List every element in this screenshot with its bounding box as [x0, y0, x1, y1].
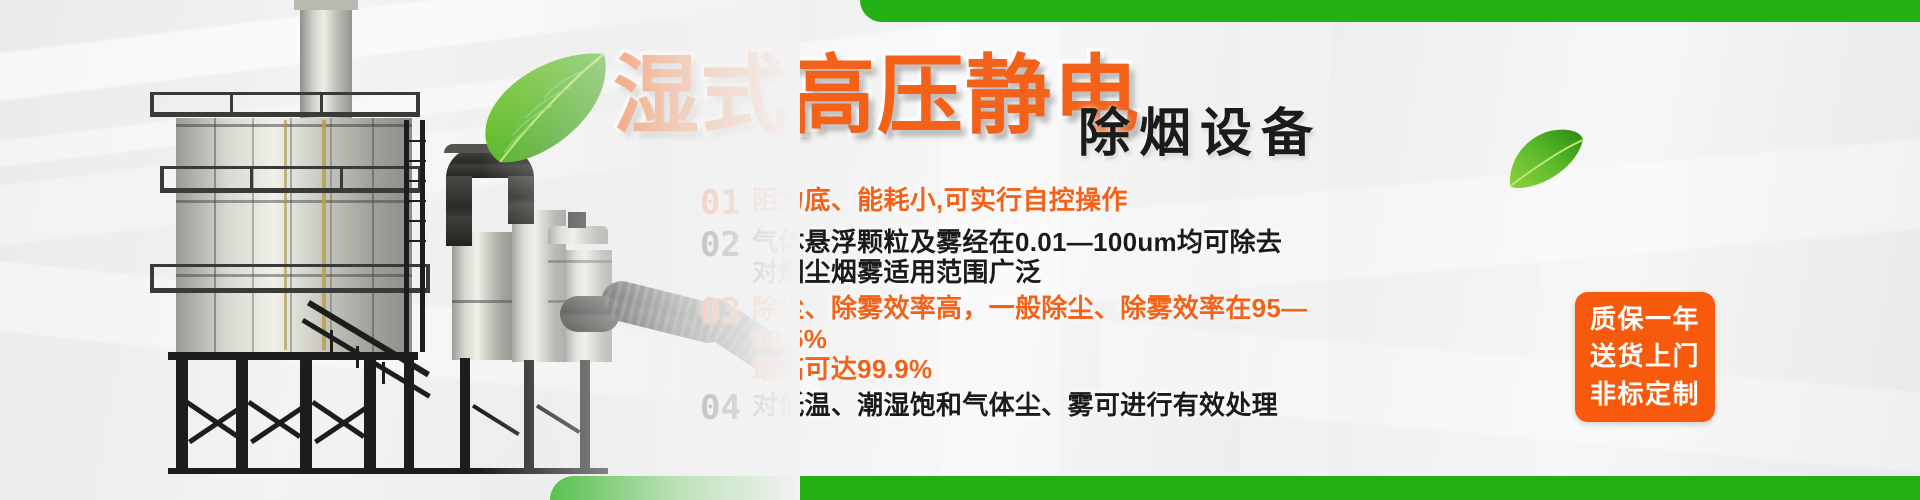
feature-text-group: 阻力底、能耗小,可实行自控操作 — [752, 185, 1128, 216]
leaf-icon — [1506, 128, 1584, 190]
feature-text-line: 最高可达99.9% — [752, 354, 1340, 385]
feature-text-line: 阻力底、能耗小,可实行自控操作 — [752, 185, 1128, 216]
green-bar-top — [860, 0, 1920, 22]
feature-text-line: 对烟尘烟雾适用范围广泛 — [752, 257, 1282, 288]
badge-line: 非标定制 — [1590, 376, 1700, 413]
feature-text-group: 对低温、潮湿饱和气体尘、雾可进行有效处理 — [752, 390, 1278, 421]
banner-subtitle: 除烟设备 — [1078, 108, 1322, 160]
photo-fade-overlay — [0, 0, 800, 500]
badge-line: 送货上门 — [1590, 338, 1700, 375]
guarantee-badge[interactable]: 质保一年 送货上门 非标定制 — [1575, 292, 1715, 422]
feature-text-group: 气体悬浮颗粒及雾经在0.01—100um均可除去 对烟尘烟雾适用范围广泛 — [752, 227, 1282, 288]
promo-banner: 湿式高压静电 湿式高压静电 除烟设备 01 阻力底、能耗小,可实行自控操作 02… — [0, 0, 1920, 500]
product-photo — [0, 0, 800, 500]
badge-line: 质保一年 — [1590, 301, 1700, 338]
feature-text-group: 除尘、除雾效率高，一般除尘、除雾效率在95—99.5% 最高可达99.9% — [752, 293, 1340, 385]
feature-text-line: 对低温、潮湿饱和气体尘、雾可进行有效处理 — [752, 390, 1278, 421]
light-stripe — [1540, 0, 1690, 500]
feature-text-line: 除尘、除雾效率高，一般除尘、除雾效率在95—99.5% — [752, 293, 1340, 354]
feature-text-line: 气体悬浮颗粒及雾经在0.01—100um均可除去 — [752, 227, 1282, 258]
